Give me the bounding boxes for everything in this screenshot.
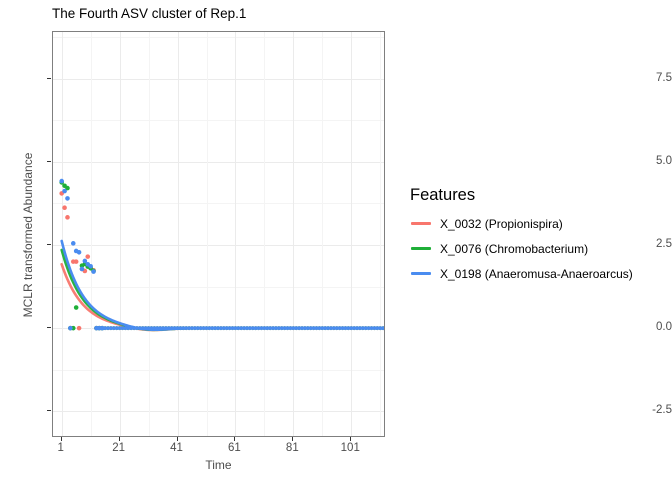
legend-item-label: X_0076 (Chromobacterium) bbox=[440, 242, 588, 256]
y-tick-label: 7.5 bbox=[628, 72, 672, 84]
data-point bbox=[65, 196, 70, 201]
baseline-point bbox=[381, 326, 385, 330]
legend-key-icon bbox=[410, 265, 432, 282]
data-point bbox=[74, 259, 79, 264]
y-tick-mark bbox=[47, 78, 51, 79]
data-point bbox=[100, 326, 105, 331]
legend-key-icon bbox=[410, 240, 432, 257]
data-point bbox=[85, 254, 90, 259]
x-tick-label: 101 bbox=[341, 442, 360, 454]
data-point bbox=[65, 215, 70, 220]
series-group bbox=[59, 191, 385, 330]
chart-figure: The Fourth ASV cluster of Rep.1 MCLR tra… bbox=[0, 0, 672, 480]
y-tick-label: 5.0 bbox=[628, 155, 672, 167]
series-fit-line bbox=[62, 241, 383, 330]
y-tick-label: -2.5 bbox=[628, 404, 672, 416]
data-point bbox=[59, 179, 64, 184]
series-group bbox=[59, 179, 385, 331]
y-tick-label: 0.0 bbox=[628, 321, 672, 333]
data-point bbox=[62, 205, 67, 210]
x-tick-label: 61 bbox=[228, 442, 241, 454]
chart-title: The Fourth ASV cluster of Rep.1 bbox=[52, 6, 246, 21]
x-tick-label: 21 bbox=[112, 442, 125, 454]
data-point bbox=[68, 326, 73, 331]
y-tick-mark bbox=[47, 327, 51, 328]
y-tick-label: 2.5 bbox=[628, 238, 672, 250]
x-tick-mark bbox=[234, 437, 235, 441]
y-tick-mark bbox=[47, 410, 51, 411]
legend-items: X_0032 (Propionispira)X_0076 (Chromobact… bbox=[410, 213, 633, 284]
x-tick-label: 81 bbox=[286, 442, 299, 454]
x-tick-mark bbox=[177, 437, 178, 441]
y-tick-mark bbox=[47, 161, 51, 162]
data-point bbox=[91, 269, 96, 274]
x-tick-label: 41 bbox=[170, 442, 183, 454]
y-axis-title: MCLR transformed Abundance bbox=[21, 125, 35, 345]
x-tick-label: 1 bbox=[57, 442, 63, 454]
data-point bbox=[62, 189, 67, 194]
x-tick-mark bbox=[350, 437, 351, 441]
data-point bbox=[74, 305, 79, 310]
x-tick-mark bbox=[119, 437, 120, 441]
x-tick-mark bbox=[292, 437, 293, 441]
x-tick-mark bbox=[61, 437, 62, 441]
data-series-layer bbox=[53, 32, 385, 437]
x-axis-title: Time bbox=[52, 458, 385, 472]
data-point bbox=[80, 267, 85, 272]
legend-item-label: X_0198 (Anaeromusa-Anaeroarcus) bbox=[440, 267, 633, 281]
legend: Features X_0032 (Propionispira)X_0076 (C… bbox=[410, 186, 633, 288]
legend-item-label: X_0032 (Propionispira) bbox=[440, 217, 563, 231]
data-point bbox=[71, 241, 76, 246]
legend-item[interactable]: X_0076 (Chromobacterium) bbox=[410, 238, 633, 259]
y-tick-mark bbox=[47, 244, 51, 245]
legend-key-icon bbox=[410, 215, 432, 232]
data-point bbox=[88, 264, 93, 269]
data-point bbox=[77, 250, 82, 255]
legend-item[interactable]: X_0032 (Propionispira) bbox=[410, 213, 633, 234]
legend-item[interactable]: X_0198 (Anaeromusa-Anaeroarcus) bbox=[410, 263, 633, 284]
plot-panel bbox=[52, 31, 385, 437]
data-point bbox=[77, 326, 82, 331]
series-group bbox=[59, 180, 385, 330]
legend-title: Features bbox=[410, 186, 633, 204]
